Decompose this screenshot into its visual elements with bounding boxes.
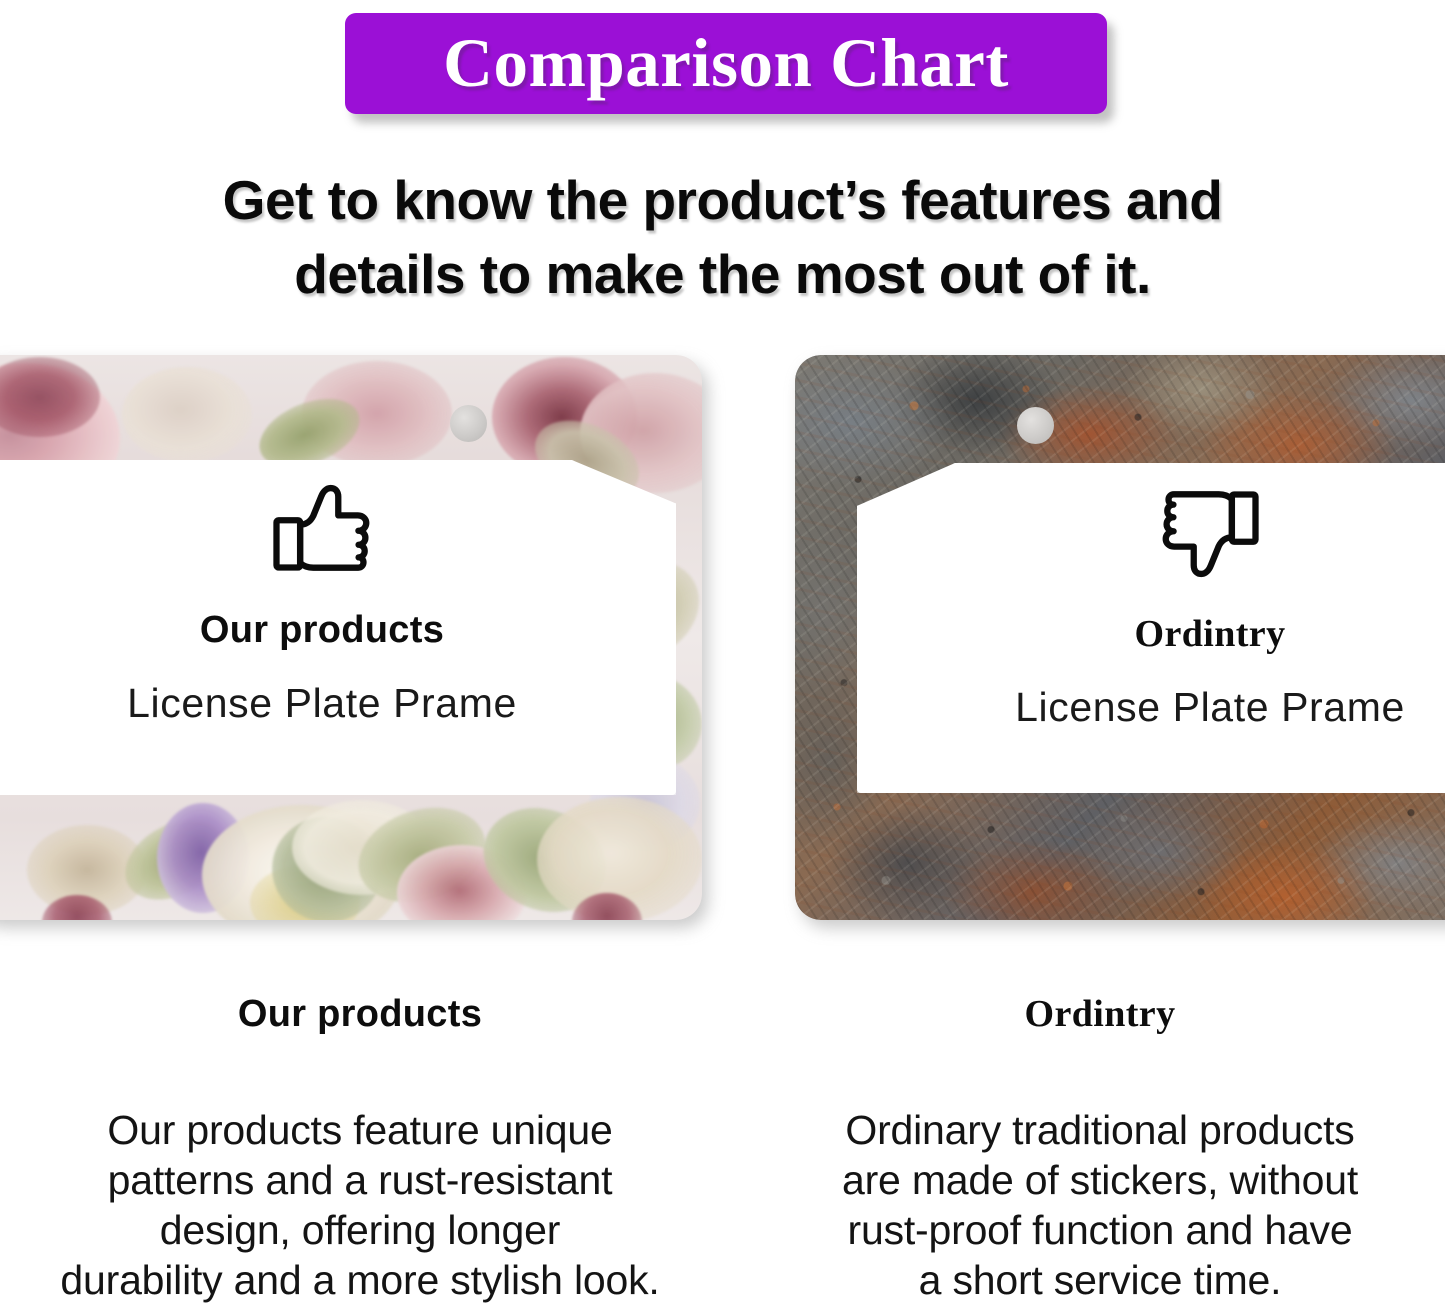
floral-petal-decoration [122, 367, 252, 462]
mounting-hole [450, 405, 487, 442]
floral-frame-surface: Our products License Plate Prame [0, 355, 702, 920]
description-line: are made of stickers, without [755, 1155, 1445, 1205]
ordinary-description-heading: Ordintry [755, 995, 1445, 1033]
rusty-frame-surface: Ordintry License Plate Prame [795, 355, 1445, 920]
ours-description-body: Our products feature unique patterns and… [10, 1105, 710, 1305]
ordinary-description-body: Ordinary traditional products are made o… [755, 1105, 1445, 1305]
mounting-hole [1017, 407, 1054, 444]
description-line: rust-proof function and have [755, 1205, 1445, 1255]
description-line: Our products feature unique [10, 1105, 710, 1155]
license-plate-window [857, 463, 1445, 793]
description-line: a short service time. [755, 1255, 1445, 1305]
page-subtitle: Get to know the product’s features and d… [0, 163, 1445, 311]
description-line: patterns and a rust-resistant [10, 1155, 710, 1205]
header-area: Comparison Chart Get to know the product… [0, 0, 1445, 310]
product-frame-ordinary: Ordintry License Plate Prame [795, 355, 1445, 920]
description-column-ours: Our products Our products feature unique… [10, 995, 710, 1305]
comparison-chart-title-badge: Comparison Chart [345, 13, 1107, 114]
description-line: design, offering longer [10, 1205, 710, 1255]
subtitle-line-1: Get to know the product’s features and [0, 163, 1445, 237]
description-line: Ordinary traditional products [755, 1105, 1445, 1155]
subtitle-line-2: details to make the most out of it. [0, 237, 1445, 311]
description-line: durability and a more stylish look. [10, 1255, 710, 1305]
license-plate-window [0, 460, 676, 795]
page-title: Comparison Chart [443, 29, 1009, 98]
descriptions-row: Our products Our products feature unique… [0, 995, 1445, 1314]
ours-description-heading: Our products [10, 995, 710, 1033]
description-column-ordinary: Ordintry Ordinary traditional products a… [755, 995, 1445, 1305]
product-frames-row: Our products License Plate Prame Ordintr… [0, 355, 1445, 920]
product-frame-ours: Our products License Plate Prame [0, 355, 702, 920]
